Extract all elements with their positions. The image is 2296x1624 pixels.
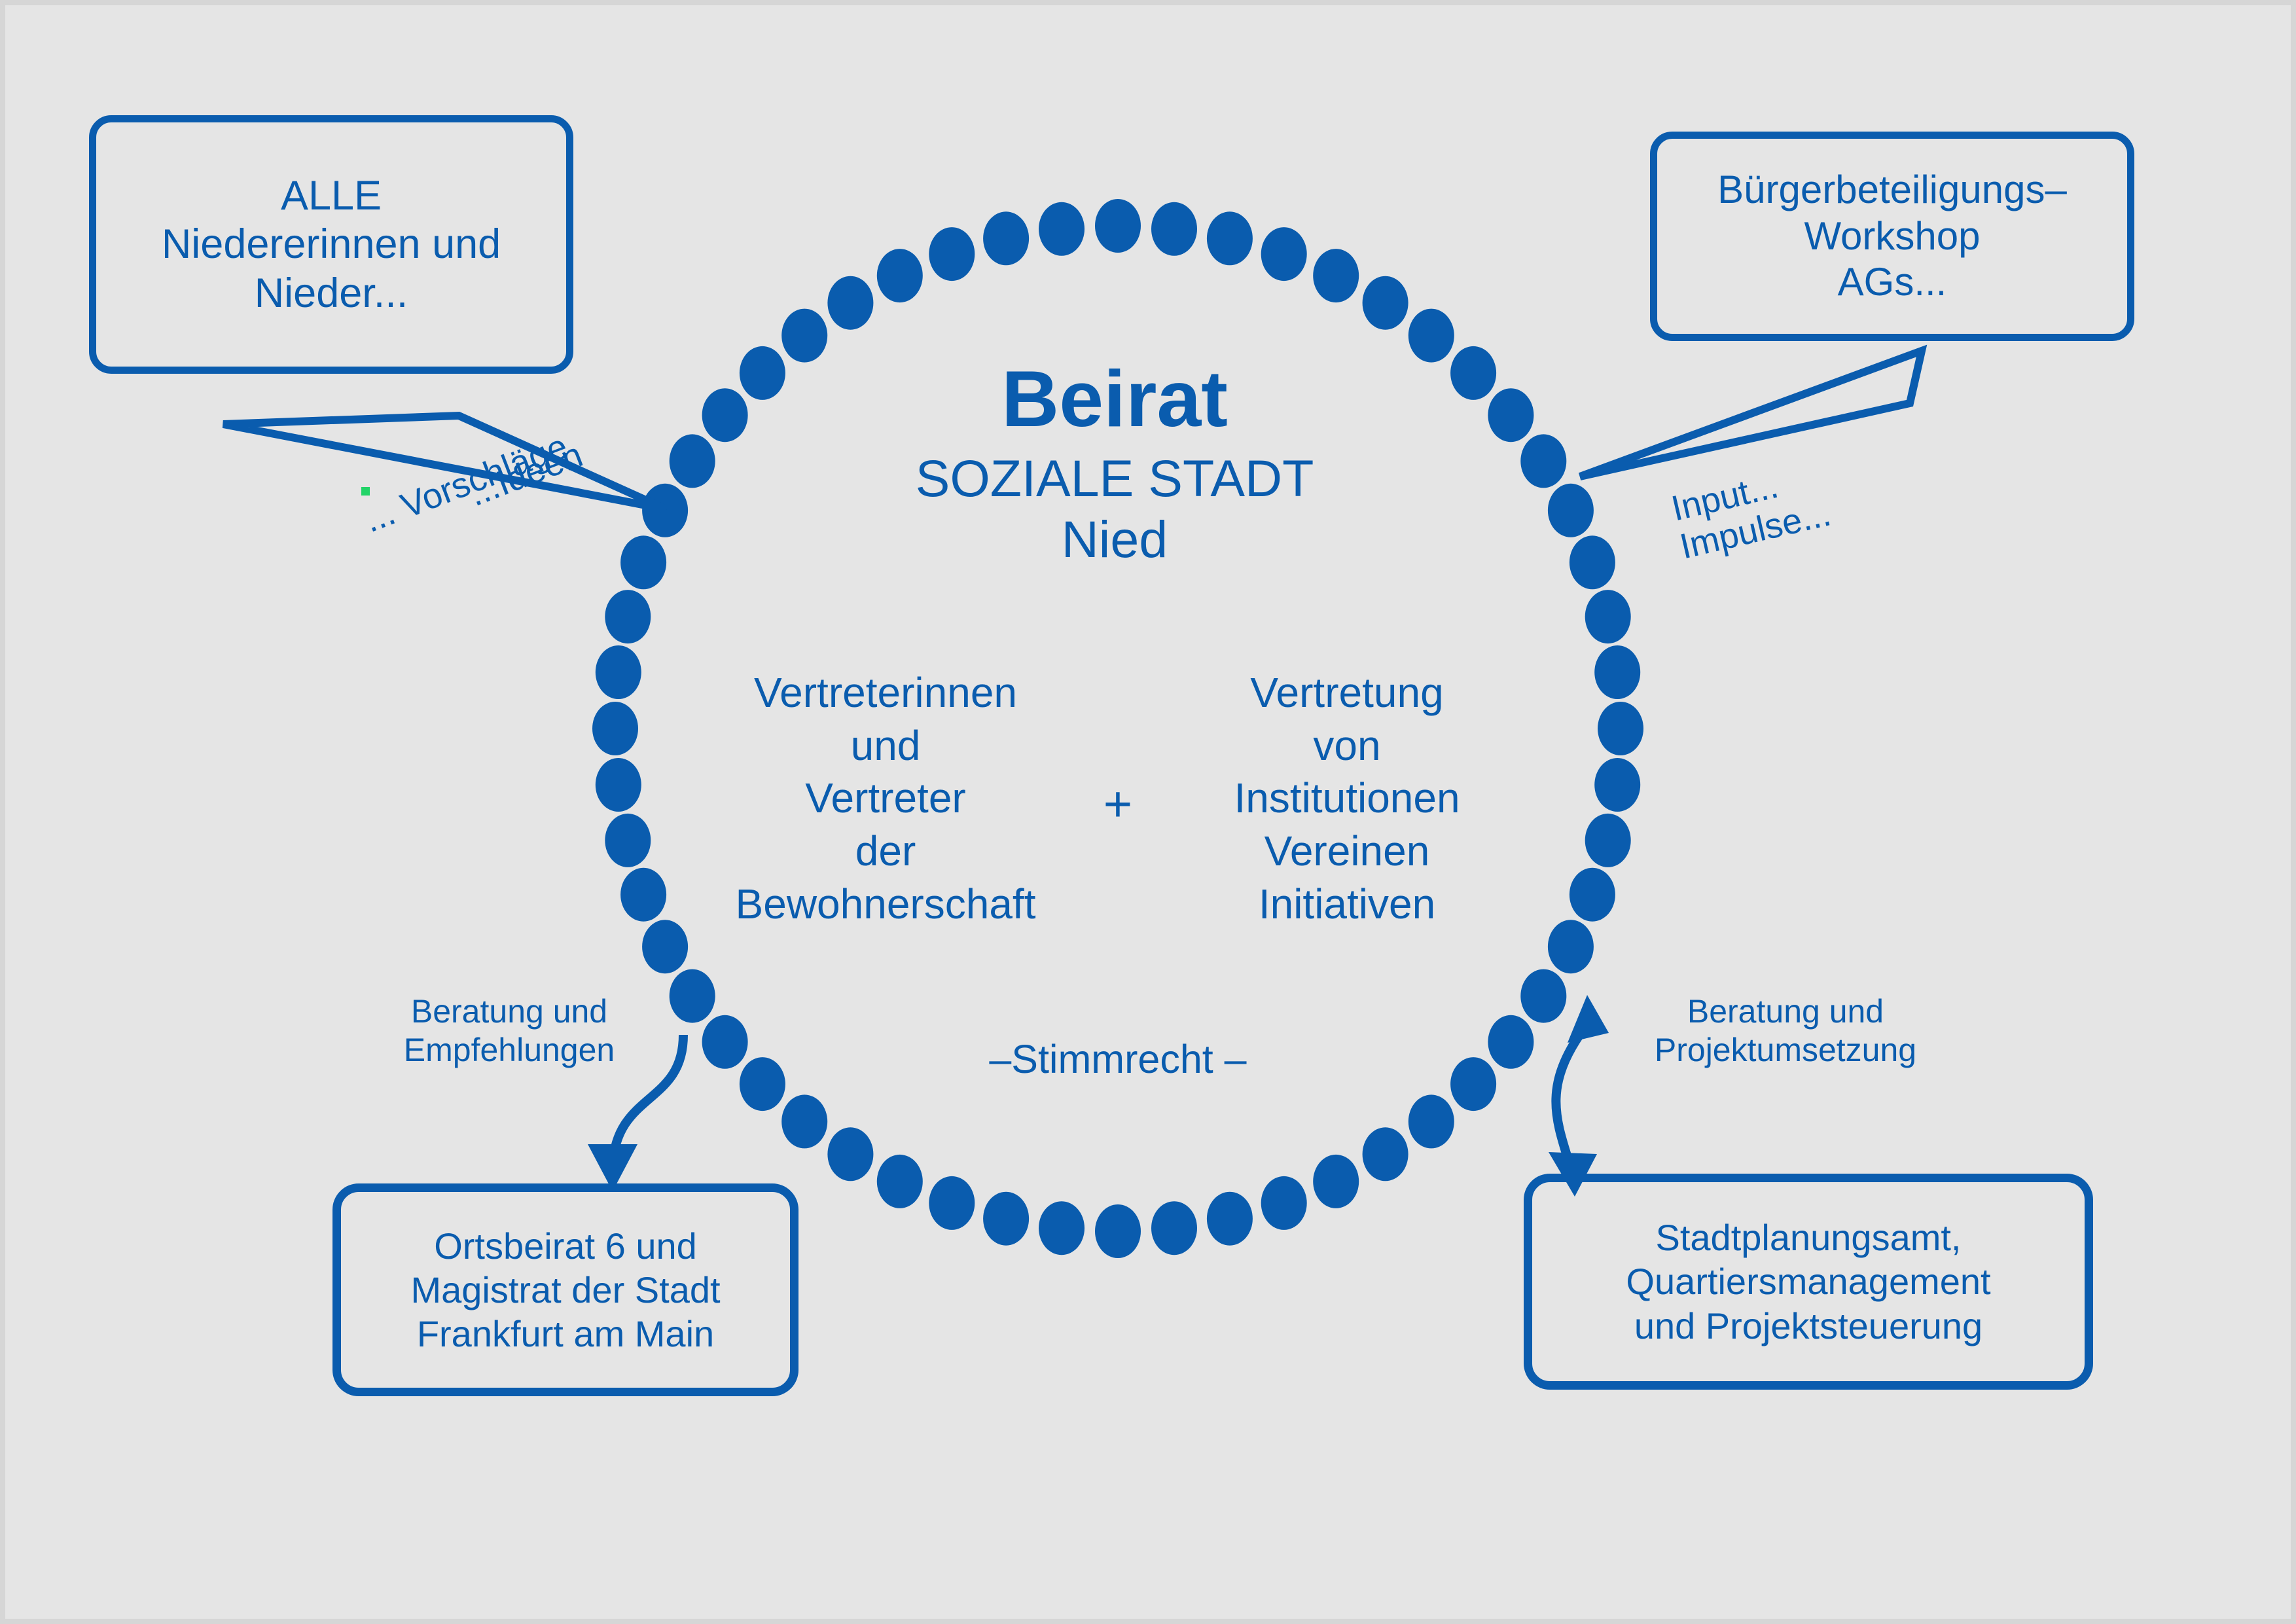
circle-dot bbox=[1207, 1192, 1253, 1246]
circle-dot bbox=[1570, 868, 1615, 922]
speech-bubble-top-left[interactable]: ALLE Niedererinnen und Nieder... bbox=[89, 115, 573, 374]
box-ortsbeirat-line-3: Frankfurt am Main bbox=[410, 1312, 720, 1356]
circle-dot bbox=[983, 1192, 1029, 1246]
left-col-line-1: Vertreterinnen bbox=[696, 666, 1075, 719]
circle-dot bbox=[740, 1057, 785, 1111]
box-ortsbeirat-line-1: Ortsbeirat 6 und bbox=[410, 1224, 720, 1268]
circle-dot bbox=[827, 1127, 873, 1181]
circle-dot bbox=[1095, 1204, 1141, 1258]
right-col-line-5: Initiativen bbox=[1157, 878, 1537, 931]
stimmrecht-note: –Stimmrecht – bbox=[922, 1036, 1314, 1083]
label-beratung-projektumsetzung-line-2: Projektumsetzung bbox=[1628, 1031, 1943, 1070]
circle-dot bbox=[1039, 202, 1085, 256]
circle-dot bbox=[1570, 535, 1615, 589]
bubble-top-left-line-3: Nieder... bbox=[162, 269, 501, 317]
circle-dot bbox=[620, 868, 666, 922]
left-col-line-4: der bbox=[696, 825, 1075, 878]
circle-dot bbox=[877, 249, 923, 302]
box-stadtplanungsamt-line-2: Quartiersmanagement bbox=[1626, 1259, 1990, 1303]
circle-dot bbox=[1363, 1127, 1408, 1181]
arrow-right-double bbox=[1556, 1030, 1583, 1164]
box-stadtplanungsamt-line-3: und Projektsteuerung bbox=[1626, 1304, 1990, 1348]
bubble-top-right-line-3: AGs... bbox=[1717, 259, 2067, 306]
diagram-canvas: ALLE Niedererinnen und Nieder... Bürgerb… bbox=[5, 5, 2291, 1619]
box-stadtplanungsamt-line-1: Stadtplanungsamt, bbox=[1626, 1216, 1990, 1259]
circle-dot bbox=[605, 590, 651, 643]
circle-dot bbox=[596, 758, 641, 812]
circle-dot bbox=[670, 434, 715, 488]
circle-dot bbox=[1520, 434, 1566, 488]
bubble-top-right-line-2: Workshop bbox=[1717, 213, 2067, 260]
bubble-top-right-line-1: Bürgerbeteiligungs– bbox=[1717, 167, 2067, 213]
circle-dot bbox=[1585, 590, 1631, 643]
circle-dot bbox=[592, 702, 638, 755]
circle-dot bbox=[642, 920, 688, 973]
circle-dot bbox=[596, 645, 641, 699]
circle-dot bbox=[1585, 814, 1631, 867]
label-beratung-empfehlungen: Beratung und Empfehlungen bbox=[372, 992, 647, 1070]
label-beratung-empfehlungen-line-2: Empfehlungen bbox=[372, 1031, 647, 1070]
plus-sign: + bbox=[1085, 775, 1151, 834]
right-col-line-4: Vereinen bbox=[1157, 825, 1537, 878]
circle-dot bbox=[1594, 645, 1640, 699]
left-col-line-2: und bbox=[696, 719, 1075, 772]
circle-dot bbox=[702, 1015, 748, 1069]
bubble-top-left-line-2: Niedererinnen und bbox=[162, 220, 501, 268]
center-right-column: Vertretung von Institutionen Vereinen In… bbox=[1157, 666, 1537, 930]
center-subtitle-2: Nied bbox=[745, 509, 1484, 569]
circle-dot bbox=[1520, 969, 1566, 1023]
circle-dot bbox=[1151, 202, 1197, 256]
circle-dot bbox=[1313, 249, 1359, 302]
circle-dot bbox=[1151, 1201, 1197, 1255]
circle-dot bbox=[605, 814, 651, 867]
circle-dot bbox=[1095, 199, 1141, 253]
circle-dot bbox=[1261, 1176, 1307, 1230]
label-beratung-projektumsetzung: Beratung und Projektumsetzung bbox=[1628, 992, 1943, 1070]
circle-dot bbox=[1363, 276, 1408, 330]
circle-dot bbox=[781, 1094, 827, 1148]
circle-dot bbox=[1313, 1155, 1359, 1208]
box-ortsbeirat[interactable]: Ortsbeirat 6 und Magistrat der Stadt Fra… bbox=[332, 1183, 798, 1396]
circle-dot bbox=[1488, 388, 1534, 442]
circle-dot bbox=[1039, 1201, 1085, 1255]
right-col-line-3: Institutionen bbox=[1157, 772, 1537, 825]
right-col-line-1: Vertretung bbox=[1157, 666, 1537, 719]
circle-dot bbox=[1548, 484, 1594, 537]
circle-dot bbox=[1594, 758, 1640, 812]
bubble-tail-top-right bbox=[1580, 351, 1922, 477]
green-marker-dot bbox=[361, 487, 370, 496]
circle-dot bbox=[620, 535, 666, 589]
circle-dot bbox=[670, 969, 715, 1023]
left-col-line-5: Bewohnerschaft bbox=[696, 878, 1075, 931]
speech-bubble-top-right[interactable]: Bürgerbeteiligungs– Workshop AGs... bbox=[1650, 132, 2134, 341]
center-title: Beirat bbox=[745, 359, 1484, 439]
circle-dot bbox=[929, 1176, 975, 1230]
circle-dot bbox=[983, 211, 1029, 265]
box-ortsbeirat-line-2: Magistrat der Stadt bbox=[410, 1268, 720, 1312]
circle-dot bbox=[877, 1155, 923, 1208]
circle-dot bbox=[1408, 1094, 1454, 1148]
circle-dot bbox=[1548, 920, 1594, 973]
circle-dot bbox=[1488, 1015, 1534, 1069]
center-left-column: Vertreterinnen und Vertreter der Bewohne… bbox=[696, 666, 1075, 930]
circle-dot bbox=[1207, 211, 1253, 265]
box-stadtplanungsamt[interactable]: Stadtplanungsamt, Quartiersmanagement un… bbox=[1524, 1174, 2093, 1390]
circle-dot bbox=[702, 388, 748, 442]
circle-dot bbox=[1261, 227, 1307, 281]
circle-dot bbox=[1450, 1057, 1496, 1111]
center-heading-group: Beirat SOZIALE STADT Nied bbox=[745, 359, 1484, 569]
circle-dot bbox=[1408, 309, 1454, 363]
left-col-line-3: Vertreter bbox=[696, 772, 1075, 825]
circle-dot bbox=[929, 227, 975, 281]
label-beratung-projektumsetzung-line-1: Beratung und bbox=[1628, 992, 1943, 1031]
label-beratung-empfehlungen-line-1: Beratung und bbox=[372, 992, 647, 1031]
center-subtitle: SOZIALE STADT bbox=[745, 448, 1484, 509]
circle-dot bbox=[781, 309, 827, 363]
arrowhead-right-up bbox=[1568, 995, 1609, 1043]
bubble-top-left-line-1: ALLE bbox=[162, 171, 501, 220]
circle-dot bbox=[1598, 702, 1643, 755]
right-col-line-2: von bbox=[1157, 719, 1537, 772]
circle-dot bbox=[827, 276, 873, 330]
